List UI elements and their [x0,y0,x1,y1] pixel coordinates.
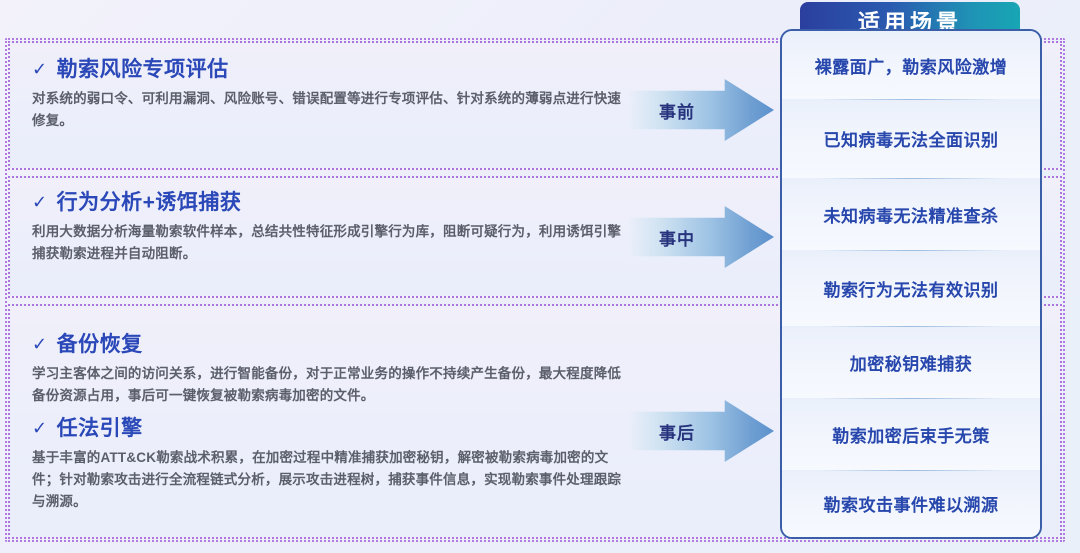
scenario-item: 裸露面广，勒索风险激增 [782,31,1040,99]
check-icon: ✓ [32,419,48,437]
scenario-item: 勒索攻击事件难以溯源 [782,470,1040,537]
capability-title-row: ✓ 行为分析+诱饵捕获 [32,190,622,215]
check-icon: ✓ [32,335,48,353]
slide-canvas: ✓ 勒索风险专项评估 对系统的弱口令、可利用漏洞、风险账号、错误配置等进行专项评… [0,0,1080,553]
capability-description: 学习主客体之间的访问关系，进行智能备份，对于正常业务的操作不持续产生备份，最大程… [32,363,622,407]
arrow-label: 事后 [629,400,725,462]
check-icon: ✓ [32,193,48,211]
capability-description: 利用大数据分析海量勒索软件样本，总结共性特征形成引擎行为库，阻断可疑行为，利用诱… [32,221,622,265]
check-icon: ✓ [32,60,48,78]
scenario-item: 加密秘钥难捕获 [782,326,1040,398]
scenario-item: 未知病毒无法精准查杀 [782,178,1040,250]
capability-title-row: ✓ 备份恢复 [32,332,622,357]
scenario-item: 勒索行为无法有效识别 [782,250,1040,326]
capability-title: 备份恢复 [57,332,143,357]
applicable-scenarios-panel: 裸露面广，勒索风险激增 已知病毒无法全面识别 未知病毒无法精准查杀 勒索行为无法… [780,29,1042,539]
capability-title: 任法引擎 [57,416,143,441]
stage-arrow-during: 事中 [629,206,774,268]
arrow-label: 事中 [629,206,725,268]
scenario-item: 勒索加密后束手无策 [782,398,1040,470]
capability-description: 基于丰富的ATT&CK勒索战术积累，在加密过程中精准捕获加密秘钥，解密被勒索病毒… [32,447,622,513]
capability-description: 对系统的弱口令、可利用漏洞、风险账号、错误配置等进行专项评估、针对系统的薄弱点进… [32,88,622,132]
capability-block: ✓ 勒索风险专项评估 对系统的弱口令、可利用漏洞、风险账号、错误配置等进行专项评… [32,57,622,132]
stage-arrow-before: 事前 [629,79,774,141]
capability-block: ✓ 备份恢复 学习主客体之间的访问关系，进行智能备份，对于正常业务的操作不持续产… [32,332,622,407]
capability-block: ✓ 任法引擎 基于丰富的ATT&CK勒索战术积累，在加密过程中精准捕获加密秘钥，… [32,416,622,513]
capability-title-row: ✓ 任法引擎 [32,416,622,441]
capability-title: 勒索风险专项评估 [57,57,229,82]
scenario-item: 已知病毒无法全面识别 [782,99,1040,178]
arrow-label: 事前 [629,79,725,141]
stage-arrow-after: 事后 [629,400,774,462]
capability-block: ✓ 行为分析+诱饵捕获 利用大数据分析海量勒索软件样本，总结共性特征形成引擎行为… [32,190,622,265]
capability-title-row: ✓ 勒索风险专项评估 [32,57,622,82]
capability-title: 行为分析+诱饵捕获 [57,190,242,215]
